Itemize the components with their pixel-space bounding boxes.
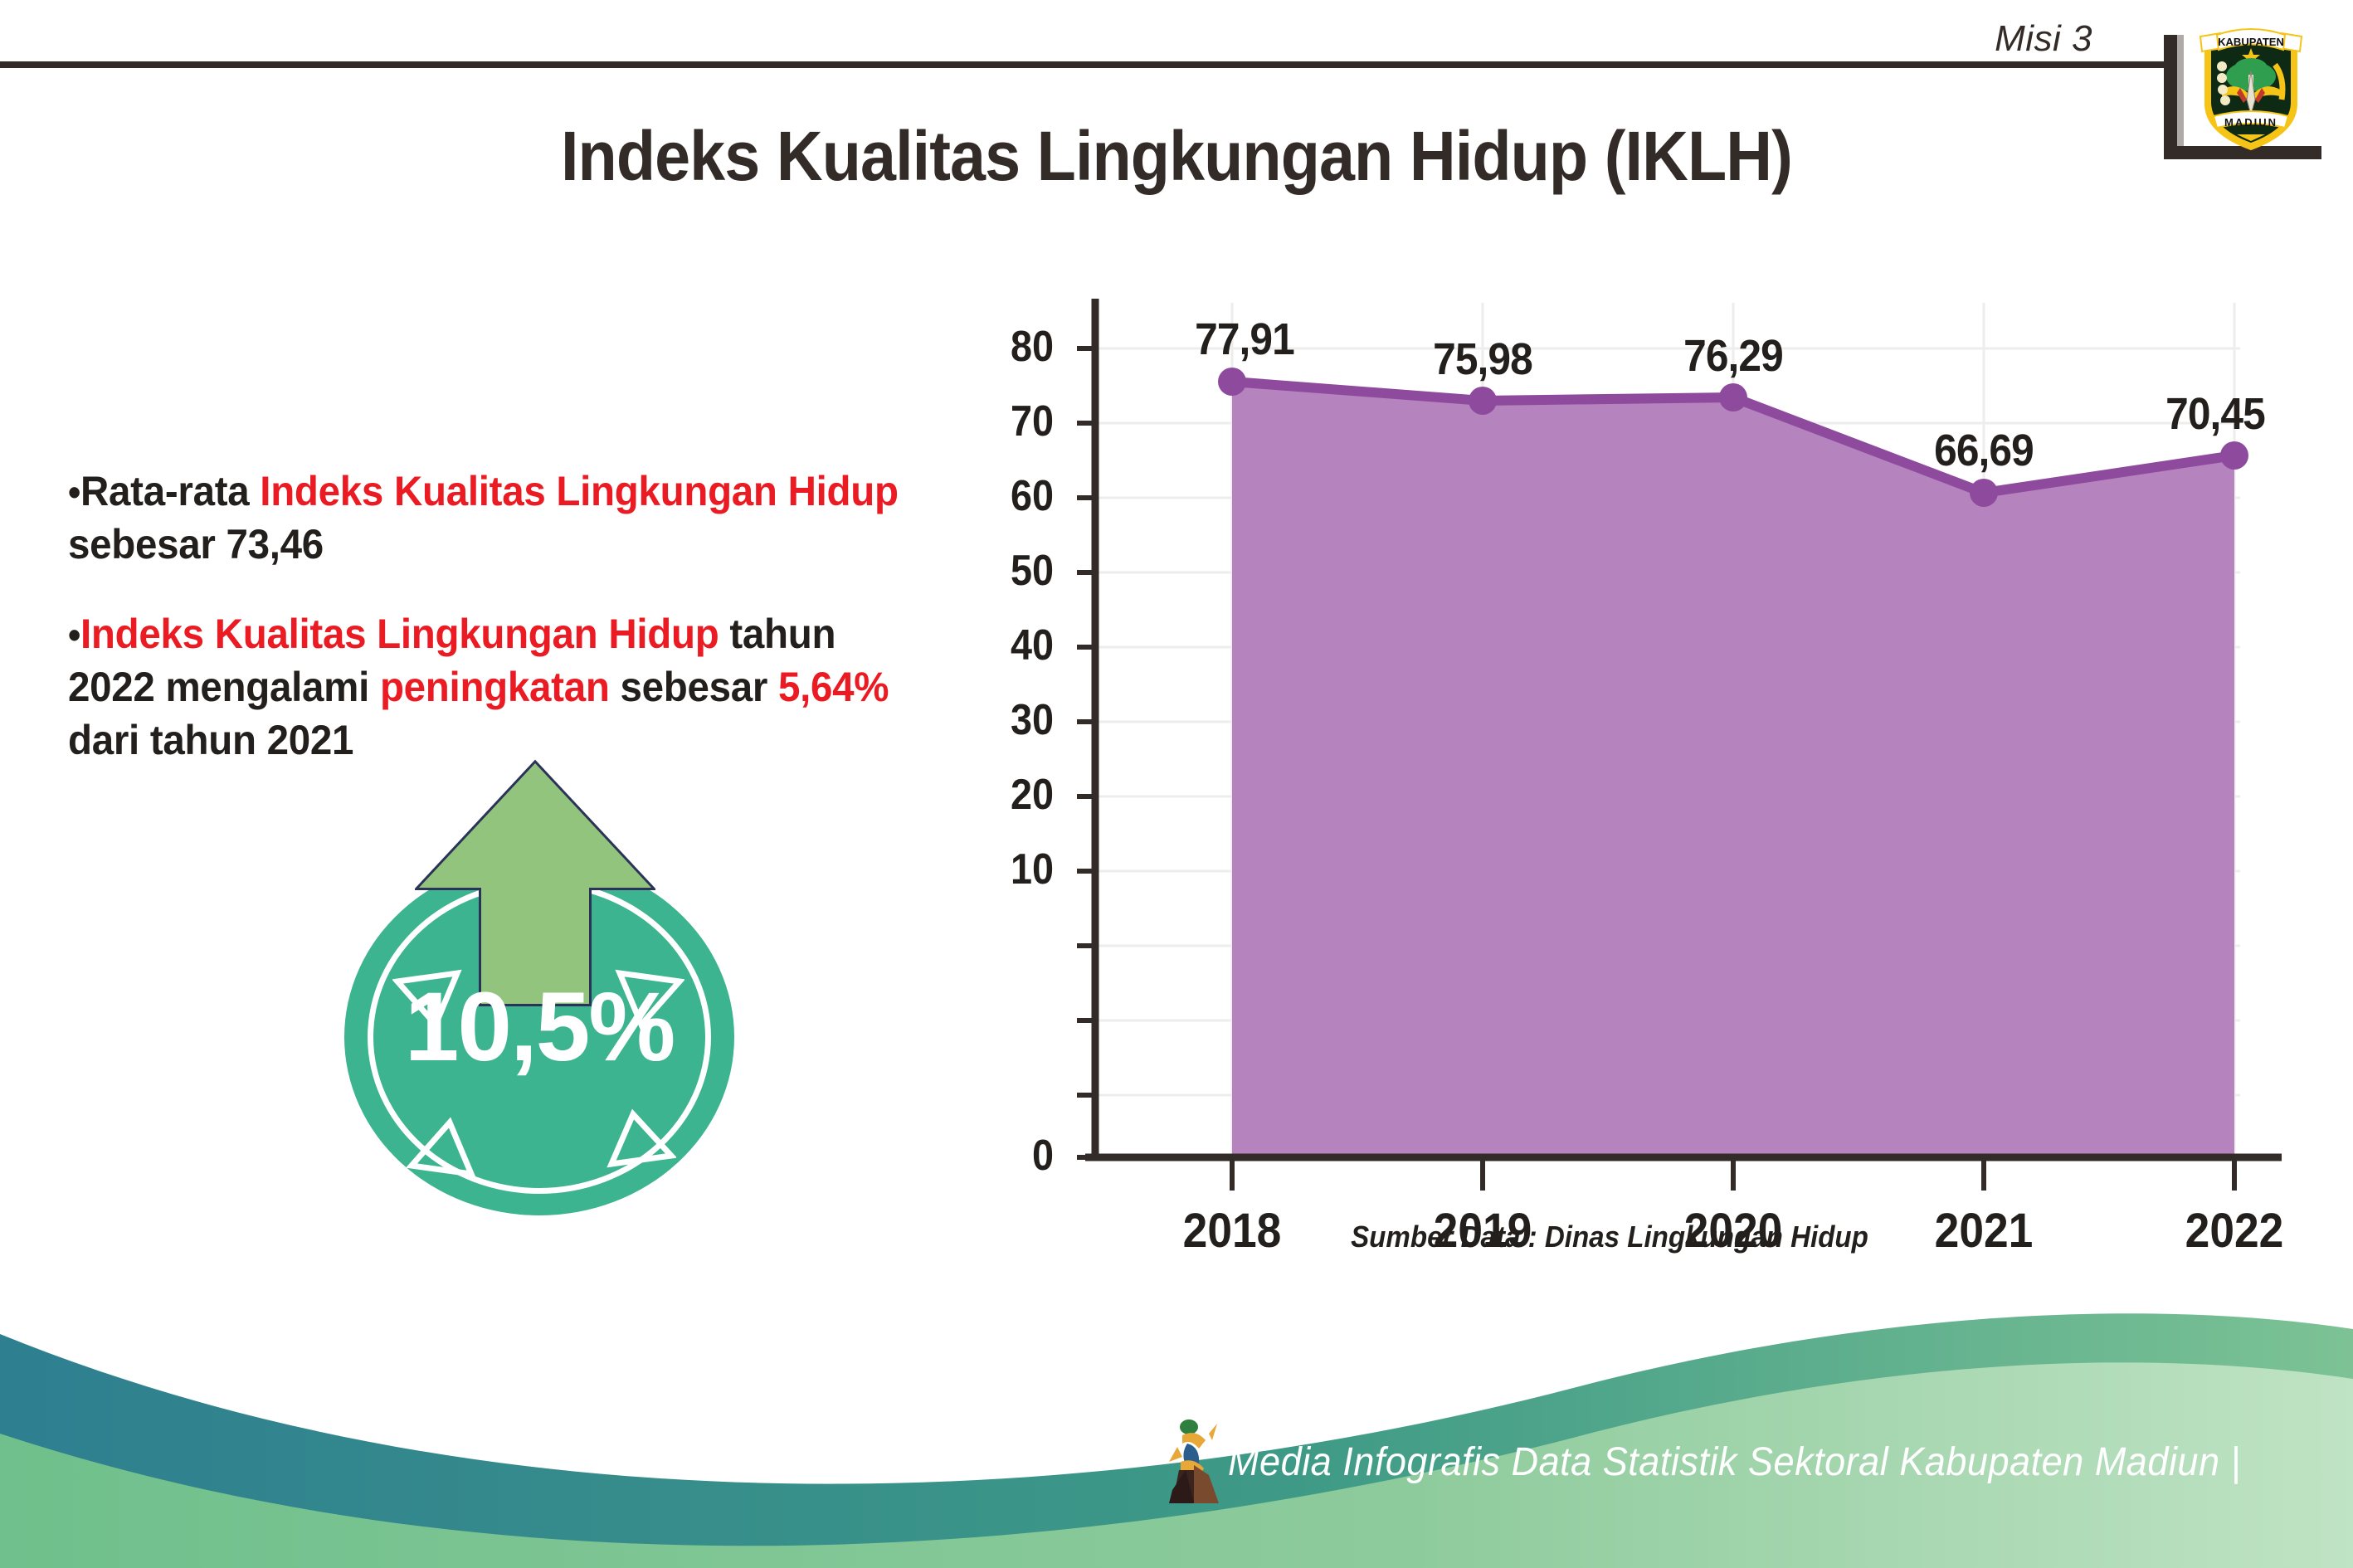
header-rule <box>0 61 2172 68</box>
badge-value: 10,5% <box>344 971 734 1083</box>
data-label: 66,69 <box>1893 425 2076 476</box>
bullet-dot: • <box>68 470 80 514</box>
data-label: 77,91 <box>1153 314 1337 365</box>
bullet-text-0-1: Indeks Kualitas Lingkungan Hidup <box>260 468 898 514</box>
footer-banner: Media Infografis Data Statistik Sektoral… <box>0 1294 2353 1568</box>
data-label: 75,98 <box>1391 334 1575 385</box>
y-tick-label: 10 <box>964 845 1054 894</box>
x-axis-ticks <box>1232 1157 2234 1191</box>
svg-text:KABUPATEN: KABUPATEN <box>2218 36 2284 48</box>
data-label: 70,45 <box>2124 388 2307 440</box>
y-tick-label: 30 <box>964 695 1054 745</box>
bullet-item-average: •Rata-rata Indeks Kualitas Lingkungan Hi… <box>68 465 928 571</box>
footer-text: Media Infografis Data Statistik Sektoral… <box>1228 1439 2241 1485</box>
area-series-fill <box>1232 382 2234 1157</box>
y-tick-label: 50 <box>964 546 1054 596</box>
y-tick-label: 70 <box>964 397 1054 446</box>
y-tick-label: 60 <box>964 471 1054 521</box>
y-tick-label: 80 <box>964 322 1054 372</box>
bullet-dot: • <box>68 613 80 656</box>
bullet-text-1-2: peningkatan <box>380 664 610 710</box>
x-tick-label: 2022 <box>2143 1203 2326 1259</box>
chart-source-note: Sumber Data : Dinas Lingkungan Hidup <box>1113 1220 2106 1254</box>
bullet-text-1-3: sebesar <box>610 664 778 710</box>
bullet-text-1-0: Indeks Kualitas Lingkungan Hidup <box>80 611 719 657</box>
increase-badge: 10,5% <box>328 759 743 1215</box>
y-tick-label: 20 <box>964 770 1054 820</box>
bullet-text-0-2: sebesar 73,46 <box>68 521 324 567</box>
bullet-list: •Rata-rata Indeks Kualitas Lingkungan Hi… <box>68 465 972 803</box>
spark-bottom-left-icon <box>407 1116 481 1182</box>
chart-canvas <box>987 274 2282 1195</box>
data-label: 76,29 <box>1642 330 1825 382</box>
misi-label: Misi 3 <box>1995 18 2092 60</box>
spark-bottom-right-icon <box>602 1108 676 1174</box>
page-title: Indeks Kualitas Lingkungan Hidup (IKLH) <box>94 116 2258 197</box>
bullet-text-1-5: dari tahun 2021 <box>68 717 353 763</box>
y-tick-label: 0 <box>964 1131 1054 1181</box>
bullet-item-increase: •Indeks Kualitas Lingkungan Hidup tahun … <box>68 607 928 767</box>
iklh-area-chart: 80 70 60 50 40 30 20 10 0 2018 2019 2020… <box>987 274 2282 1195</box>
statistics-figure-icon <box>1157 1410 1232 1510</box>
y-tick-label: 40 <box>964 621 1054 670</box>
bullet-text-1-4: 5,64% <box>778 664 889 710</box>
bullet-text-0-0: Rata-rata <box>80 468 260 514</box>
